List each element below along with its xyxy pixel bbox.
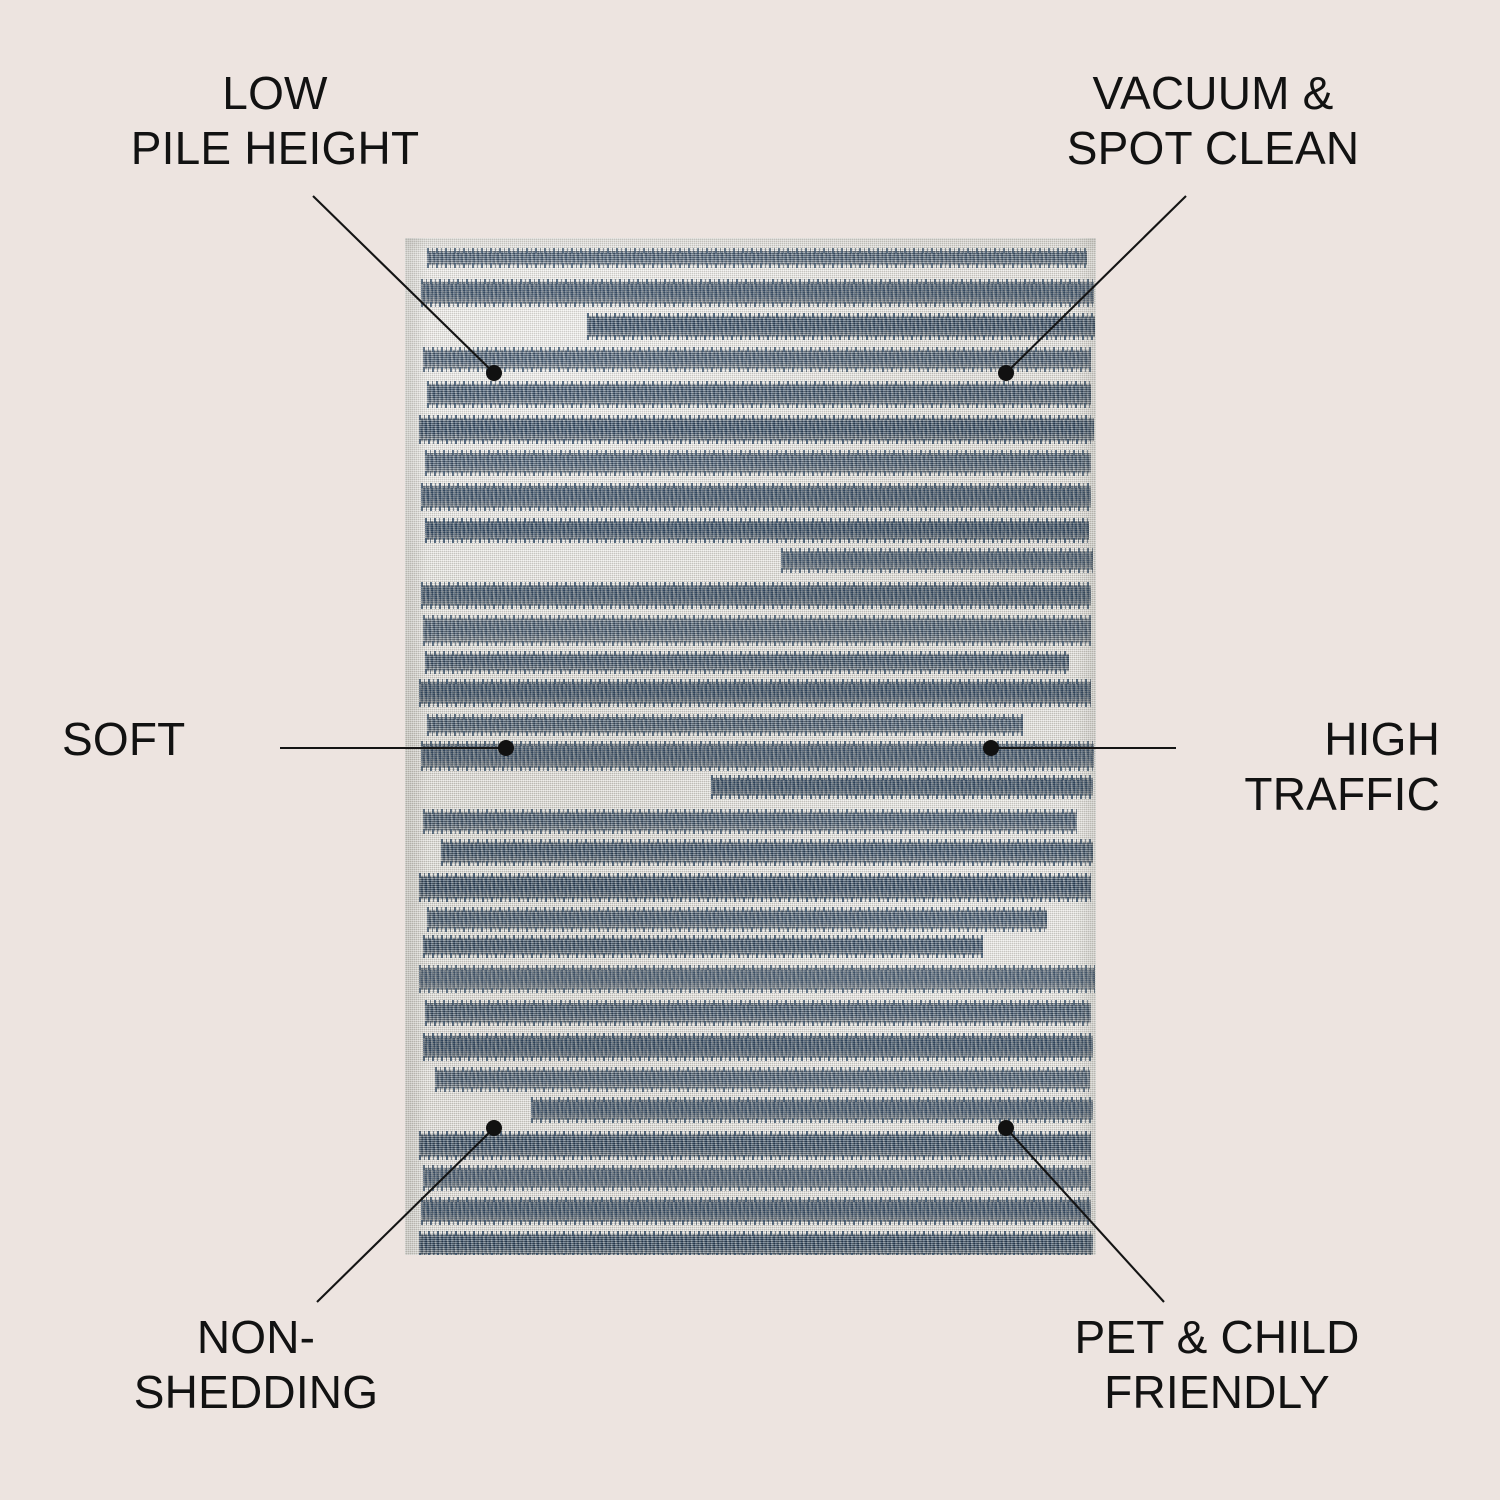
rug-stripe	[427, 251, 1087, 265]
rug-stripe	[587, 316, 1095, 337]
rug-stripe	[435, 1070, 1090, 1089]
callout-label-vacuum-spot-clean: VACUUM & SPOT CLEAN	[978, 66, 1448, 175]
rug-stripe	[419, 682, 1091, 704]
rug-stripe	[419, 968, 1095, 990]
rug-stripe	[419, 1234, 1093, 1255]
callout-label-high-traffic: HIGH TRAFFIC	[1110, 712, 1440, 821]
rug-stripe	[421, 1200, 1091, 1222]
callout-label-low-pile-height: LOW PILE HEIGHT	[60, 66, 490, 175]
rug-stripe	[781, 551, 1093, 570]
callout-label-non-shedding: NON- SHEDDING	[56, 1310, 456, 1419]
rug-stripe	[421, 282, 1094, 304]
rug-stripe	[427, 910, 1047, 929]
rug-stripe	[531, 1100, 1093, 1120]
rug-stripe	[423, 1036, 1093, 1058]
rug-stripe	[427, 384, 1091, 405]
rug-stripe	[427, 717, 1023, 733]
rug-stripe	[441, 842, 1093, 863]
rug-stripe	[425, 1003, 1091, 1023]
rug-stripe	[423, 1168, 1091, 1188]
rug-stripe	[421, 486, 1091, 508]
rug-stripe	[425, 654, 1069, 671]
rug-stripe	[419, 418, 1094, 441]
rug-stripe	[425, 453, 1091, 473]
callout-label-pet-child-friendly: PET & CHILD FRIENDLY	[982, 1310, 1452, 1419]
rug-stripe	[423, 938, 983, 955]
rug-stripe	[423, 812, 1077, 831]
rug-stripe	[711, 778, 1093, 796]
rug-product-image	[405, 238, 1096, 1255]
rug-stripe	[419, 1134, 1091, 1157]
rug-stripe	[421, 585, 1091, 606]
callout-label-soft: SOFT	[62, 712, 362, 767]
rug-stripe	[423, 350, 1091, 369]
infographic-canvas: LOW PILE HEIGHT VACUUM & SPOT CLEAN SOFT…	[0, 0, 1500, 1500]
rug-stripe	[421, 744, 1094, 768]
rug-stripe	[425, 521, 1089, 540]
rug-stripe	[419, 876, 1091, 899]
rug-stripe	[423, 618, 1091, 643]
